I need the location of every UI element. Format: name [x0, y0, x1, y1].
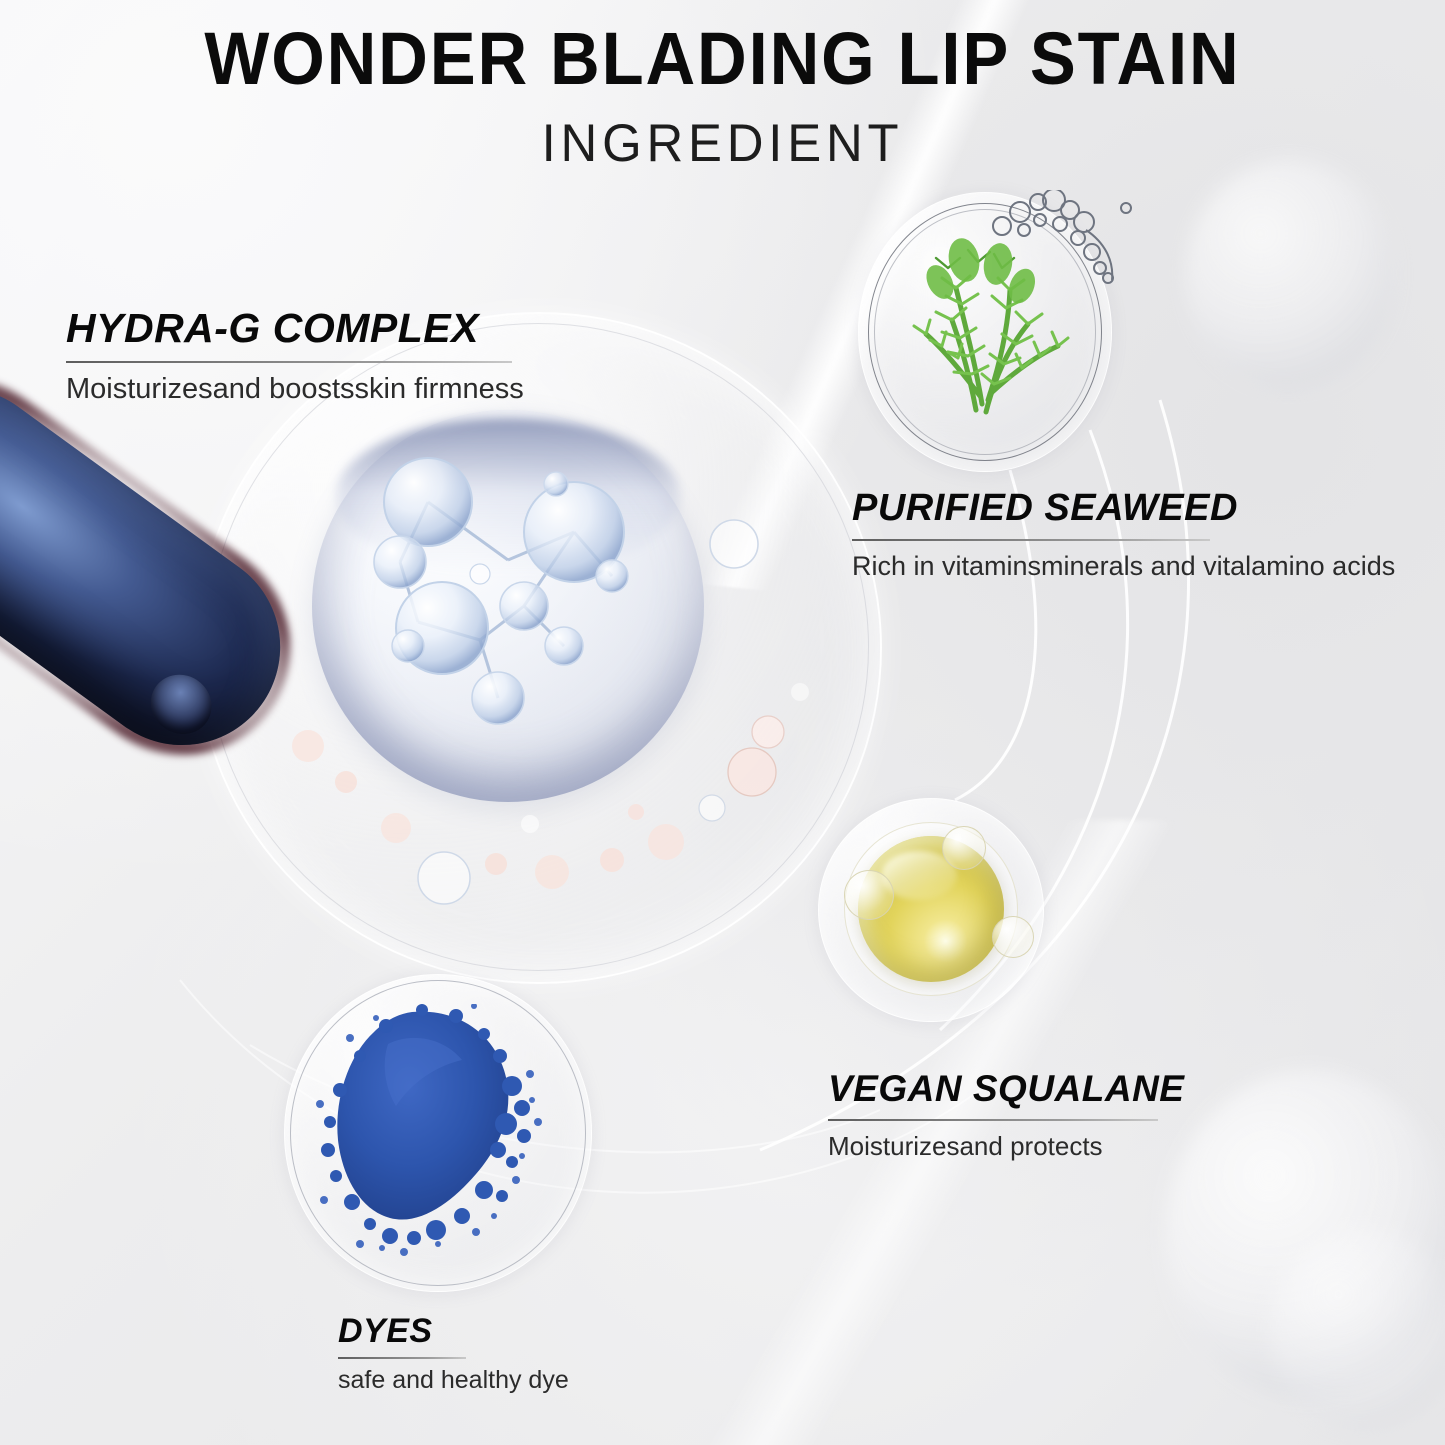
ingredient-label-dyes: DYES safe and healthy dye [338, 1312, 569, 1395]
ingredient-name: DYES [338, 1312, 569, 1351]
ingredient-label-vegan-squalane: VEGAN SQUALANE Moisturizesand protects [828, 1068, 1184, 1162]
ingredient-description: Moisturizesand boostsskin firmness [66, 373, 524, 406]
ingredient-name: PURIFIED SEAWEED [852, 487, 1395, 530]
blue-pigment-powder [316, 1004, 562, 1262]
label-divider [338, 1357, 466, 1359]
ingredient-description: Moisturizesand protects [828, 1131, 1184, 1162]
ingredient-name: VEGAN SQUALANE [828, 1068, 1184, 1110]
page-title: WONDER BLADING LIP STAIN [51, 16, 1395, 101]
ingredient-name: HYDRA-G COMPLEX [66, 305, 524, 352]
background-bokeh-bubble-top-right [1185, 160, 1395, 390]
ingredient-label-hydra-g-complex: HYDRA-G COMPLEX Moisturizesand boostsski… [66, 305, 524, 406]
molecule-structure-icon [312, 410, 704, 802]
squalane-accent-bubble-left [844, 870, 894, 920]
ingredient-label-purified-seaweed: PURIFIED SEAWEED Rich in vitaminsmineral… [852, 487, 1395, 582]
background-bokeh-bubble-corner [1270, 1230, 1445, 1430]
seaweed-bubble-cluster-icon [980, 190, 1140, 310]
ingredient-description: Rich in vitaminsminerals and vitalamino … [852, 551, 1395, 582]
infographic-canvas: WONDER BLADING LIP STAIN INGREDIENT [0, 0, 1445, 1445]
ingredient-description: safe and healthy dye [338, 1366, 569, 1395]
page-subtitle: INGREDIENT [29, 113, 1416, 174]
squalane-accent-bubble-top [942, 826, 986, 870]
squalane-accent-bubble-right [992, 916, 1034, 958]
label-divider [852, 539, 1210, 541]
label-divider [828, 1119, 1158, 1121]
background-bokeh-bubble-bottom-right [1165, 1070, 1445, 1400]
label-divider [66, 361, 512, 363]
